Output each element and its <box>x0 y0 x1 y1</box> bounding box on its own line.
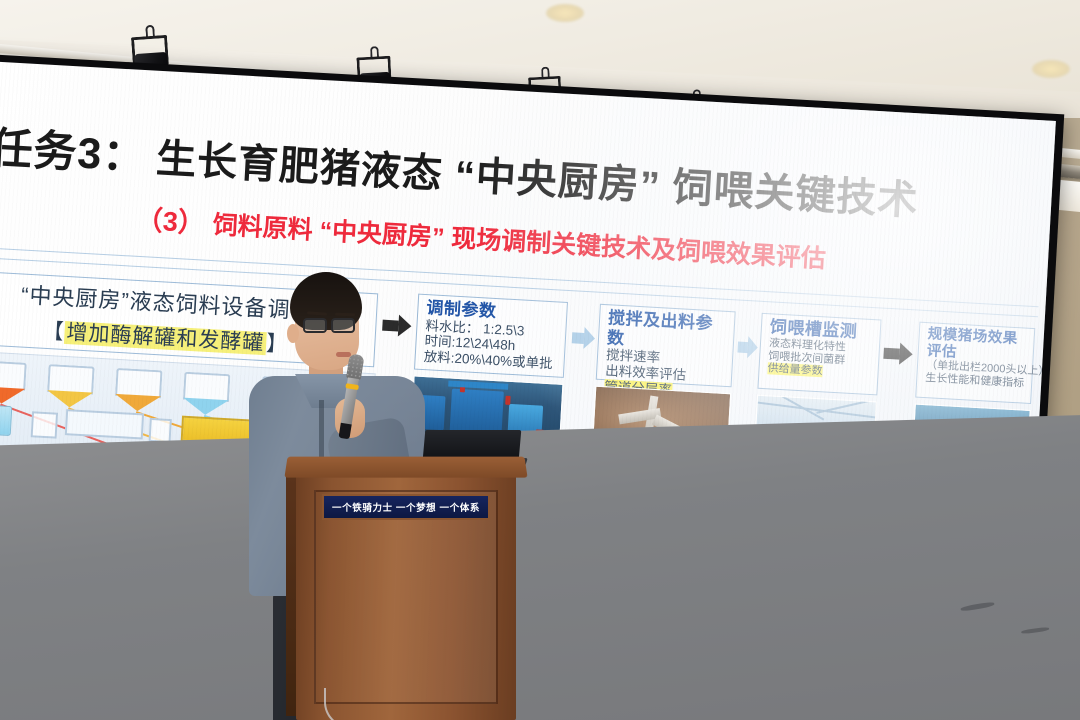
recessed-ceiling-light <box>546 4 584 22</box>
flow-box-2: 搅拌及出料参数 搅拌速率 出料效率评估 管道分层率 <box>596 304 736 387</box>
speaker-eyebrow <box>335 313 355 317</box>
highlighted-text: 增加酶解罐和发酵罐 <box>64 321 267 355</box>
podium-cable <box>324 688 384 720</box>
eyeglasses-icon <box>303 318 327 333</box>
highlighted-text: 供给量参数 <box>767 363 823 378</box>
flow-arrow-icon <box>883 342 913 366</box>
floor <box>0 414 1080 720</box>
subtitle-number: （3） <box>135 198 206 241</box>
flow-arrow-icon <box>737 336 758 359</box>
flow-box-2-heading: 搅拌及出料参数 <box>607 308 729 354</box>
podium-panel <box>314 490 498 704</box>
podium-top <box>284 457 527 478</box>
title-part-1: 任务3： <box>0 114 148 185</box>
bracket-open: 【 <box>42 320 65 344</box>
conference-room: • 任务3： 生长育肥猪液态 “中央厨房” 饲喂关键技术 （3） 饲料原料 “中… <box>0 0 1080 720</box>
flow-box-3: 饲喂槽监测 液态料理化特性 饲喂批次间菌群 供给量参数 <box>757 313 881 396</box>
podium-sign-text: 一个铁骑力士 一个梦想 一个体系 <box>332 500 480 514</box>
recessed-ceiling-light <box>1032 60 1070 78</box>
eyeglasses-icon <box>331 318 355 333</box>
podium-sign: 一个铁骑力士 一个梦想 一个体系 <box>322 494 490 520</box>
podium-front: 一个铁骑力士 一个梦想 一个体系 <box>296 474 516 720</box>
flow-box-4: 规模猪场效果评估 （单批出栏2000头以上） 生长性能和健康指标 <box>915 322 1035 404</box>
speaker-ear <box>287 324 299 343</box>
podium: 一个铁骑力士 一个梦想 一个体系 <box>286 456 526 720</box>
flow-arrow-icon <box>571 326 595 349</box>
